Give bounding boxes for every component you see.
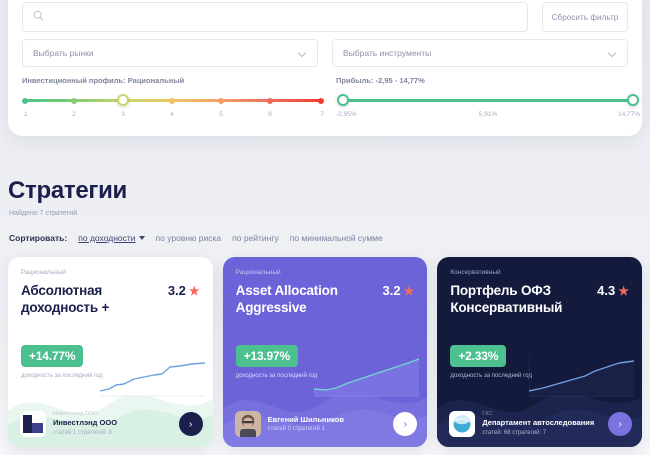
card-author[interactable]: Инвестлэнд ООО Инвестлэнд ООО статей 1 с… bbox=[20, 411, 203, 437]
profit-tick-label-min: -2,95% bbox=[336, 111, 357, 118]
card-author-name: Инвестлэнд ООО bbox=[53, 418, 172, 428]
card-title-row: Абсолютная доходность + 3.2 ★ bbox=[21, 282, 200, 317]
sort-label: Сортировать: bbox=[9, 233, 67, 243]
risk-tick-dot-1 bbox=[22, 98, 28, 104]
avatar bbox=[20, 411, 46, 437]
page-title: Стратегии bbox=[8, 177, 127, 205]
chevron-down-icon bbox=[298, 49, 307, 58]
card-yield-caption: доходность за последний год bbox=[236, 372, 322, 381]
card-title-row: Портфель ОФЗ Консервативный 4.3 ★ bbox=[450, 282, 629, 317]
profit-tick-label-mid: 5,91% bbox=[479, 111, 497, 118]
risk-tick-label-1: 1 bbox=[24, 111, 28, 118]
risk-slider-block: Инвестиционный профиль: Рациональный 1 2… bbox=[22, 76, 326, 123]
risk-tick-dot-2 bbox=[71, 98, 77, 104]
card-metric: +2.33% доходность за последний год bbox=[450, 345, 536, 381]
card-header: Консервативный Портфель ОФЗ Консервативн… bbox=[437, 257, 642, 317]
card-rating: 4.3 ★ bbox=[597, 282, 629, 298]
profit-slider-fill bbox=[339, 99, 637, 102]
star-icon: ★ bbox=[189, 285, 200, 297]
card-title: Asset Allocation Aggressive bbox=[236, 282, 377, 317]
strategy-card[interactable]: Рациональный Абсолютная доходность + 3.2… bbox=[8, 257, 213, 447]
select-markets[interactable]: Выбрать рынки bbox=[22, 39, 318, 67]
risk-tick-label-5: 5 bbox=[219, 111, 223, 118]
card-rating-value: 3.2 bbox=[168, 283, 186, 298]
star-icon: ★ bbox=[618, 285, 629, 297]
card-header: Рациональный Asset Allocation Aggressive… bbox=[223, 257, 428, 317]
profit-slider-title: Прибыль: -2,95 - 14,77% bbox=[336, 76, 640, 85]
search-input[interactable] bbox=[50, 12, 517, 23]
card-yield-badge: +2.33% bbox=[450, 345, 506, 367]
card-author-name: Евгений Шильников bbox=[268, 415, 387, 425]
risk-tick-dot-7 bbox=[318, 98, 324, 104]
risk-tick-label-2: 2 bbox=[72, 111, 76, 118]
reset-filter-button[interactable]: Сбросить фильтр bbox=[542, 2, 628, 32]
card-rating: 3.2 ★ bbox=[168, 282, 200, 298]
card-title: Портфель ОФЗ Консервативный bbox=[450, 282, 591, 317]
select-markets-label: Выбрать рынки bbox=[33, 48, 298, 58]
select-instruments[interactable]: Выбрать инструменты bbox=[332, 39, 628, 67]
risk-slider-handle[interactable] bbox=[117, 94, 129, 106]
risk-tick-dot-5 bbox=[218, 98, 224, 104]
sort-option-yield[interactable]: по доходности bbox=[78, 233, 144, 243]
card-profile-tag: Рациональный bbox=[236, 269, 415, 276]
card-profile-tag: Консервативный bbox=[450, 269, 629, 276]
risk-tick-dot-6 bbox=[267, 98, 273, 104]
card-author-stats: статей: 68 стратегий: 7 bbox=[482, 429, 601, 437]
card-yield-badge: +13.97% bbox=[236, 345, 298, 367]
card-title: Абсолютная доходность + bbox=[21, 282, 162, 317]
risk-tick-dot-4 bbox=[169, 98, 175, 104]
strategy-card[interactable]: Консервативный Портфель ОФЗ Консервативн… bbox=[437, 257, 642, 447]
chevron-down-icon bbox=[139, 236, 145, 240]
card-yield-badge: +14.77% bbox=[21, 345, 83, 367]
card-open-button[interactable]: › bbox=[179, 412, 203, 436]
sort-row: Сортировать: по доходности по уровню рис… bbox=[9, 233, 383, 243]
card-sparkline-chart bbox=[314, 349, 419, 397]
card-author-pre: Инвестлэнд ООО bbox=[53, 411, 172, 418]
avatar bbox=[235, 411, 261, 437]
card-metric: +13.97% доходность за последний год bbox=[236, 345, 322, 381]
sort-option-min-sum[interactable]: по минимальной сумме bbox=[290, 233, 383, 243]
strategy-card-list: Рациональный Абсолютная доходность + 3.2… bbox=[8, 257, 642, 447]
selects-row: Выбрать рынки Выбрать инструменты bbox=[22, 39, 628, 67]
sort-option-rating[interactable]: по рейтингу bbox=[232, 233, 279, 243]
card-author-pre: ГКС bbox=[482, 411, 601, 418]
card-rating: 3.2 ★ bbox=[383, 282, 415, 298]
card-author-info: Евгений Шильников статей 0 стратегий 1 bbox=[268, 415, 387, 433]
card-profile-tag: Рациональный bbox=[21, 269, 200, 276]
sort-option-yield-label: по доходности bbox=[78, 233, 135, 243]
profit-tick-label-max: 14,77% bbox=[618, 111, 640, 118]
risk-slider-ticks: 1 2 3 4 5 6 7 bbox=[22, 111, 326, 123]
strategies-page: Сбросить фильтр Выбрать рынки Выбрать ин… bbox=[0, 0, 650, 455]
card-author-stats: статей 1 стратегий: 8 bbox=[53, 429, 172, 437]
risk-slider-track[interactable] bbox=[22, 94, 326, 108]
risk-tick-label-7: 7 bbox=[320, 111, 324, 118]
search-icon bbox=[33, 8, 44, 26]
card-rating-value: 3.2 bbox=[383, 283, 401, 298]
avatar bbox=[449, 411, 475, 437]
star-icon: ★ bbox=[404, 285, 415, 297]
card-author[interactable]: ГКС Департамент автоследования статей: 6… bbox=[449, 411, 632, 437]
chevron-down-icon bbox=[608, 49, 617, 58]
card-open-button[interactable]: › bbox=[393, 412, 417, 436]
sliders-row: Инвестиционный профиль: Рациональный 1 2… bbox=[22, 76, 642, 123]
profit-slider-handle-min[interactable] bbox=[337, 94, 349, 106]
card-yield-caption: доходность за последний год bbox=[450, 372, 536, 381]
card-author[interactable]: Евгений Шильников статей 0 стратегий 1 › bbox=[235, 411, 418, 437]
profit-slider-track[interactable] bbox=[336, 94, 640, 108]
card-yield-caption: доходность за последний год bbox=[21, 372, 107, 381]
card-metric: +14.77% доходность за последний год bbox=[21, 345, 107, 381]
risk-tick-label-3: 3 bbox=[121, 111, 125, 118]
risk-tick-label-4: 4 bbox=[170, 111, 174, 118]
select-instruments-label: Выбрать инструменты bbox=[343, 48, 608, 58]
sort-option-risk[interactable]: по уровню риска bbox=[156, 233, 222, 243]
profit-slider-ticks: -2,95% 5,91% 14,77% bbox=[336, 111, 640, 123]
card-header: Рациональный Абсолютная доходность + 3.2… bbox=[8, 257, 213, 317]
risk-tick-label-6: 6 bbox=[268, 111, 272, 118]
search-row: Сбросить фильтр bbox=[22, 2, 628, 32]
card-sparkline-chart bbox=[529, 349, 634, 397]
card-author-info: Инвестлэнд ООО Инвестлэнд ООО статей 1 с… bbox=[53, 411, 172, 436]
risk-slider-title: Инвестиционный профиль: Рациональный bbox=[22, 76, 326, 85]
card-open-button[interactable]: › bbox=[608, 412, 632, 436]
card-title-row: Asset Allocation Aggressive 3.2 ★ bbox=[236, 282, 415, 317]
card-author-stats: статей 0 стратегий 1 bbox=[268, 425, 387, 433]
card-author-info: ГКС Департамент автоследования статей: 6… bbox=[482, 411, 601, 436]
filter-panel: Сбросить фильтр Выбрать рынки Выбрать ин… bbox=[8, 0, 642, 136]
profit-slider-handle-max[interactable] bbox=[627, 94, 639, 106]
search-box[interactable] bbox=[22, 2, 528, 32]
card-rating-value: 4.3 bbox=[597, 283, 615, 298]
results-count: Найдено 7 стратегий bbox=[9, 210, 77, 217]
profit-slider-block: Прибыль: -2,95 - 14,77% -2,95% 5,91% 14,… bbox=[336, 76, 640, 123]
card-author-name: Департамент автоследования bbox=[482, 418, 601, 428]
strategy-card[interactable]: Рациональный Asset Allocation Aggressive… bbox=[223, 257, 428, 447]
card-sparkline-chart bbox=[100, 349, 205, 397]
